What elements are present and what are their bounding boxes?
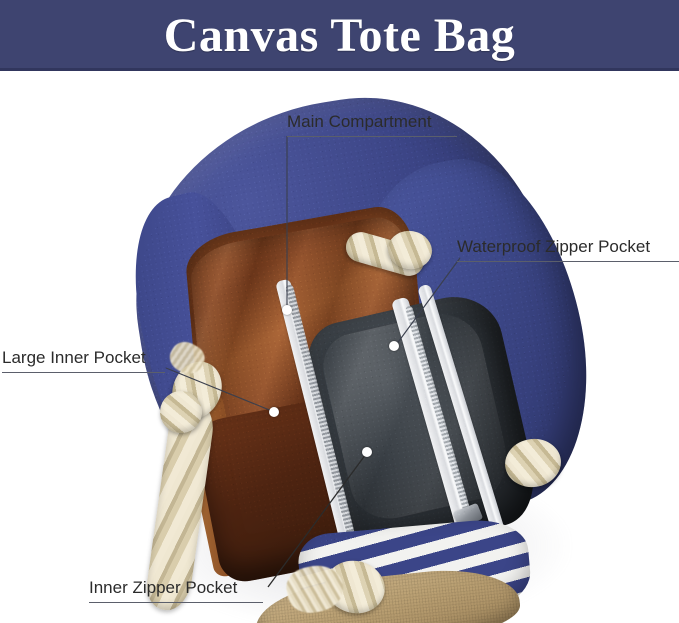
page-title: Canvas Tote Bag [164,12,516,60]
callout-label-large-inner-pocket: Large Inner Pocket [2,348,165,376]
callout-dot-large-inner-pocket [269,407,279,417]
callout-leader-lines [0,71,679,623]
callout-dot-waterproof-zipper-pocket [389,341,399,351]
callout-text-inner-zipper-pocket: Inner Zipper Pocket [89,578,263,603]
leader-line-large-inner-pocket [166,368,272,411]
callout-dot-main-compartment [282,305,292,315]
leader-line-waterproof-zipper-pocket [396,258,460,345]
callout-label-main-compartment: Main Compartment [287,112,457,140]
callout-label-inner-zipper-pocket: Inner Zipper Pocket [89,578,263,606]
callout-text-main-compartment: Main Compartment [287,112,457,137]
callout-label-waterproof-zipper-pocket: Waterproof Zipper Pocket [457,237,679,265]
product-image-stage: Main Compartment Waterproof Zipper Pocke… [0,71,679,623]
callout-text-waterproof-zipper-pocket: Waterproof Zipper Pocket [457,237,679,262]
callout-text-large-inner-pocket: Large Inner Pocket [2,348,165,373]
leader-line-inner-zipper-pocket [268,454,366,587]
callout-dot-inner-zipper-pocket [362,447,372,457]
header-banner: Canvas Tote Bag [0,0,679,71]
